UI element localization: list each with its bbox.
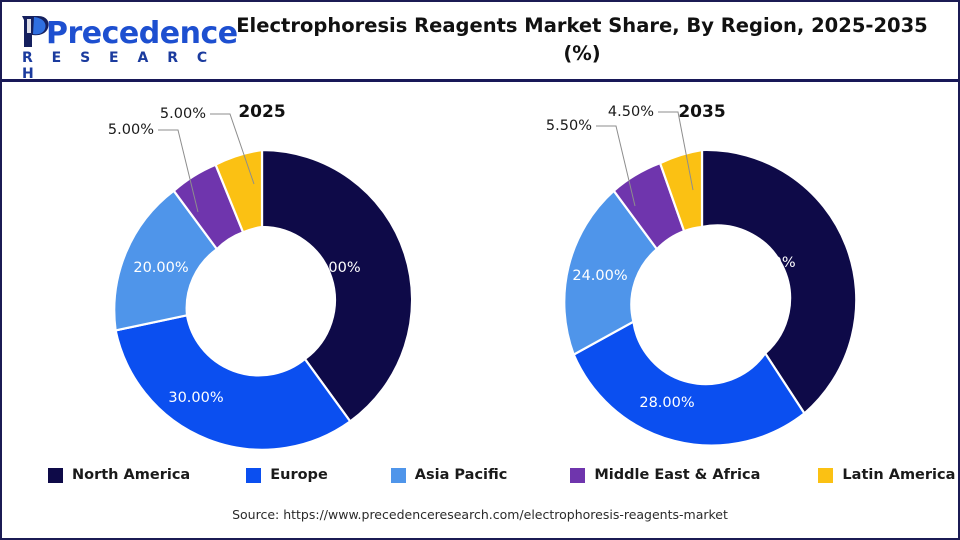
slice-europe xyxy=(574,322,805,446)
legend-label: Middle East & Africa xyxy=(594,467,760,483)
page-title: Electrophoresis Reagents Market Share, B… xyxy=(232,12,932,69)
figure-header: Precedence R E S E A R C H Electrophores… xyxy=(2,2,958,82)
callout-label-middle-east-africa: 5.50% xyxy=(546,118,592,134)
legend-swatch-icon xyxy=(48,468,63,483)
brand-name: Precedence xyxy=(46,16,238,51)
chart-figure: Precedence R E S E A R C H Electrophores… xyxy=(0,0,960,540)
legend-swatch-icon xyxy=(570,468,585,483)
legend-item-north-america[interactable]: North America xyxy=(48,467,190,483)
legend-label: Europe xyxy=(270,467,328,483)
donut-slices-2035 xyxy=(564,150,856,446)
legend-item-asia-pacific[interactable]: Asia Pacific xyxy=(391,467,508,483)
brand-logo: Precedence R E S E A R C H xyxy=(16,14,216,70)
legend-label: North America xyxy=(72,467,190,483)
source-text: Source: https://www.precedenceresearch.c… xyxy=(2,507,958,522)
legend-swatch-icon xyxy=(818,468,833,483)
plot-area: 2025 2035 40.00% 30.00% 20.00% xyxy=(2,82,958,452)
value-label-asia-pacific: 20.00% xyxy=(133,260,188,276)
donut-chart-2025: 40.00% 30.00% 20.00% 5.00% 5.00% xyxy=(2,82,480,452)
value-label-north-america: 40.00% xyxy=(305,260,360,276)
legend-label: Latin America xyxy=(842,467,955,483)
callout-label-middle-east-africa: 5.00% xyxy=(108,122,154,138)
callout-label-latin-america: 4.50% xyxy=(608,104,654,120)
donut-chart-2035: 38.00% 28.00% 24.00% 5.50% 4.50% xyxy=(480,82,958,452)
value-label-europe: 30.00% xyxy=(168,390,223,406)
callout-label-latin-america: 5.00% xyxy=(160,106,206,122)
value-label-asia-pacific: 24.00% xyxy=(572,268,627,284)
legend-swatch-icon xyxy=(391,468,406,483)
legend-item-latin-america[interactable]: Latin America xyxy=(818,467,955,483)
value-label-europe: 28.00% xyxy=(639,395,694,411)
legend-swatch-icon xyxy=(246,468,261,483)
value-label-north-america: 38.00% xyxy=(740,255,795,271)
brand-subtitle: R E S E A R C H xyxy=(22,50,216,82)
legend-item-europe[interactable]: Europe xyxy=(246,467,328,483)
slice-europe xyxy=(116,315,351,449)
donut-slices-2025 xyxy=(114,150,412,450)
chart-legend: North America Europe Asia Pacific Middle… xyxy=(2,460,958,490)
legend-label: Asia Pacific xyxy=(415,467,508,483)
legend-item-middle-east-africa[interactable]: Middle East & Africa xyxy=(570,467,760,483)
